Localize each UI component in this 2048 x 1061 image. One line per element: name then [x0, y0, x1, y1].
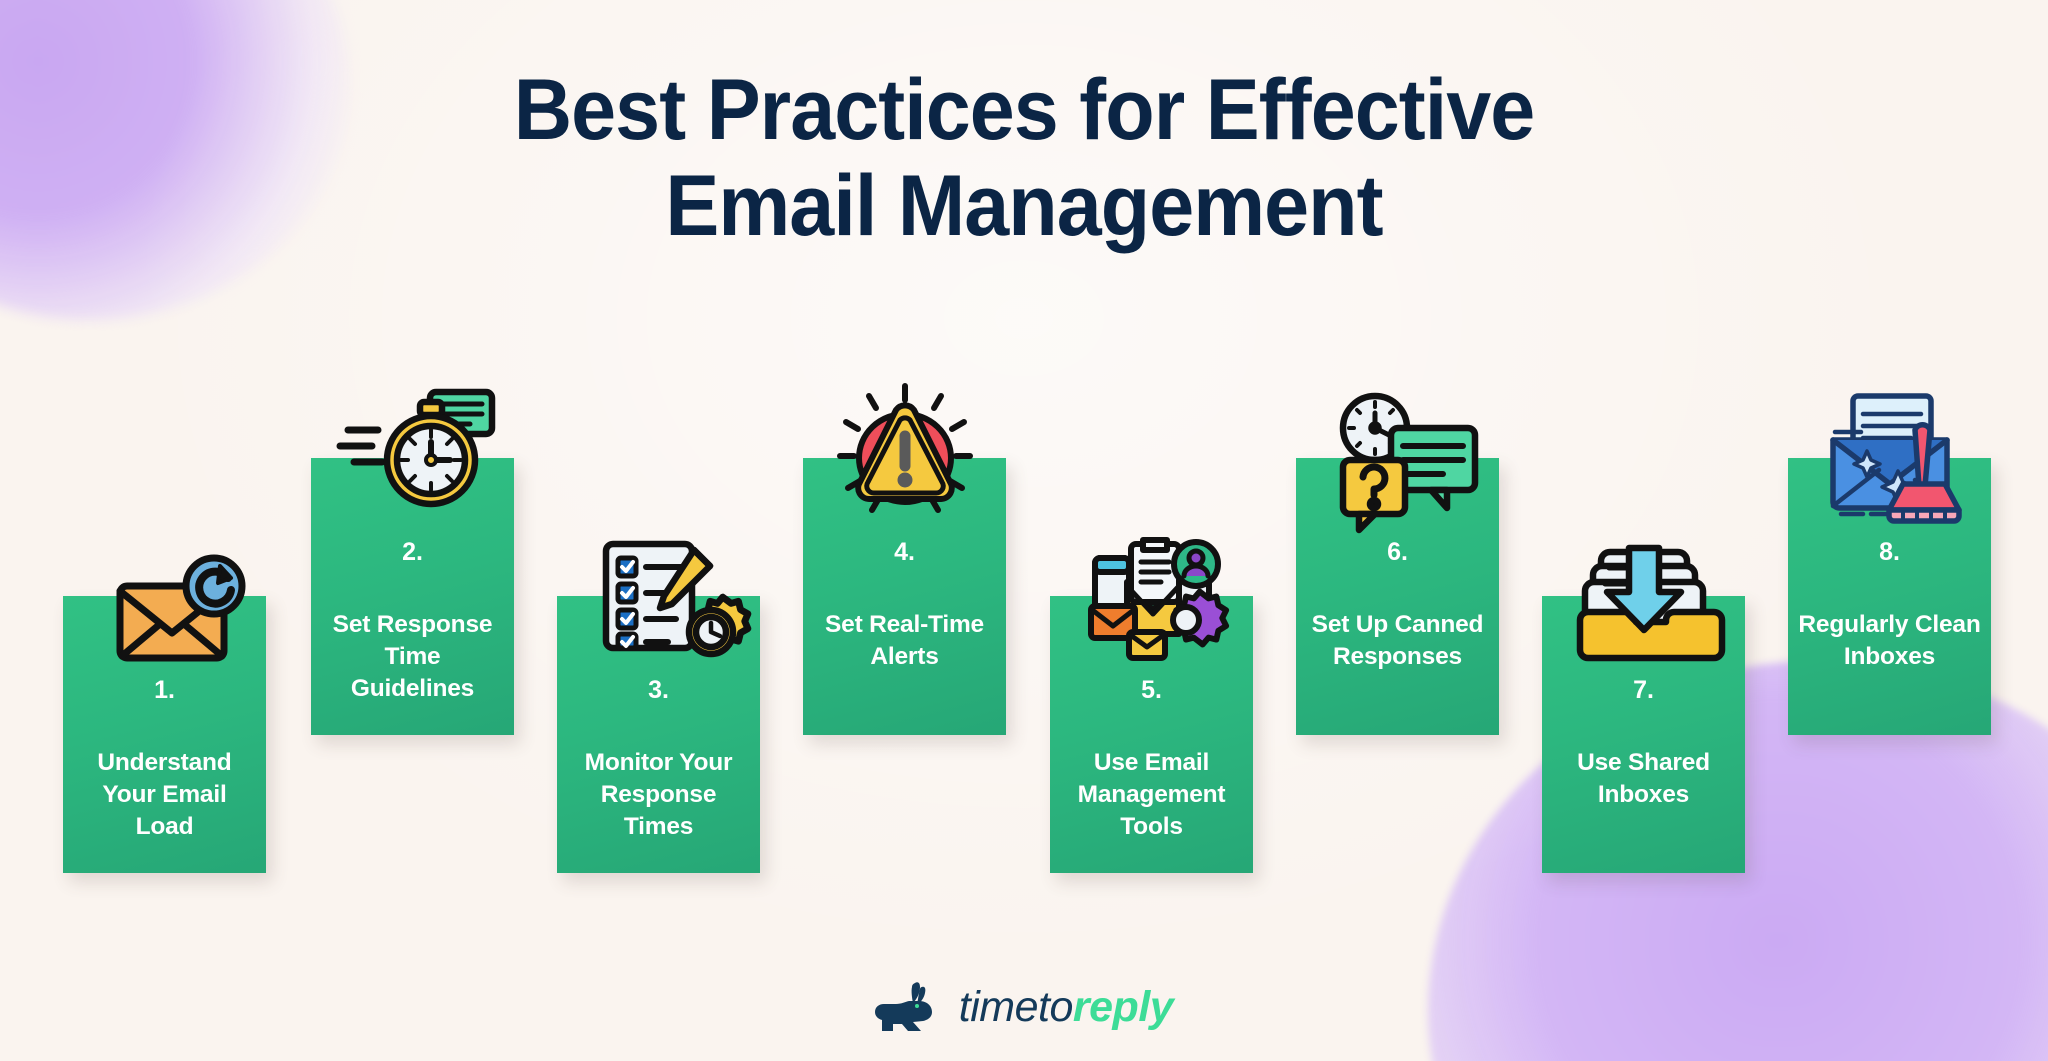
page-title-line-2: Email Management [61, 158, 1986, 254]
practice-card-label: Set Real-Time Alerts [803, 609, 1006, 673]
practice-card-3[interactable]: 3. Monitor Your Response Times [557, 596, 760, 873]
checklist-gear-clock-icon [576, 524, 742, 674]
practice-card-number: 1. [63, 678, 266, 703]
practice-card-list: 1. Understand Your Email Load [0, 400, 2048, 900]
practice-card-4[interactable]: 4. Set Real-Time Alerts [803, 458, 1006, 735]
clock-chat-bubbles-icon [1319, 380, 1485, 530]
practice-card-number: 7. [1542, 678, 1745, 703]
practice-card-6[interactable]: 6. Set Up Canned Responses [1296, 458, 1499, 735]
alert-triangle-icon [822, 378, 988, 528]
logo-primary-text: timeto [959, 983, 1073, 1031]
practice-card-7[interactable]: 7. Use Shared Inboxes [1542, 596, 1745, 873]
practice-card-5[interactable]: 5. Use Email Management Tools [1050, 596, 1253, 873]
practice-card-1[interactable]: 1. Understand Your Email Load [63, 596, 266, 873]
rabbit-icon [875, 981, 943, 1033]
practice-card-number: 5. [1050, 678, 1253, 703]
inbox-tray-arrow-icon [1561, 526, 1727, 676]
practice-card-label: Use Email Management Tools [1050, 747, 1253, 843]
practice-card-label: Understand Your Email Load [63, 747, 266, 843]
practice-card-label: Monitor Your Response Times [557, 747, 760, 843]
practice-card-label: Use Shared Inboxes [1542, 747, 1745, 811]
practice-card-number: 2. [311, 540, 514, 565]
stopwatch-chat-icon [334, 380, 500, 530]
email-tools-gear-icon [1069, 524, 1235, 674]
practice-card-8[interactable]: 8. Regularly Clean Inboxes [1788, 458, 1991, 735]
page-title-line-1: Best Practices for Effective [61, 62, 1986, 158]
practice-card-label: Set Response Time Guidelines [311, 609, 514, 705]
envelope-refresh-icon [94, 528, 260, 678]
practice-card-number: 3. [557, 678, 760, 703]
practice-card-label: Set Up Canned Responses [1296, 609, 1499, 673]
brand-logo: timetoreply [0, 981, 2048, 1033]
practice-card-label: Regularly Clean Inboxes [1788, 609, 1991, 673]
envelope-broom-icon [1807, 382, 1973, 532]
practice-card-2[interactable]: 2. Set Response Time Guidelines [311, 458, 514, 735]
practice-card-number: 6. [1296, 540, 1499, 565]
page-title: Best Practices for Effective Email Manag… [61, 62, 1986, 255]
practice-card-number: 4. [803, 540, 1006, 565]
logo-wordmark: timetoreply [959, 983, 1173, 1032]
practice-card-number: 8. [1788, 540, 1991, 565]
logo-accent-text: reply [1073, 983, 1173, 1031]
